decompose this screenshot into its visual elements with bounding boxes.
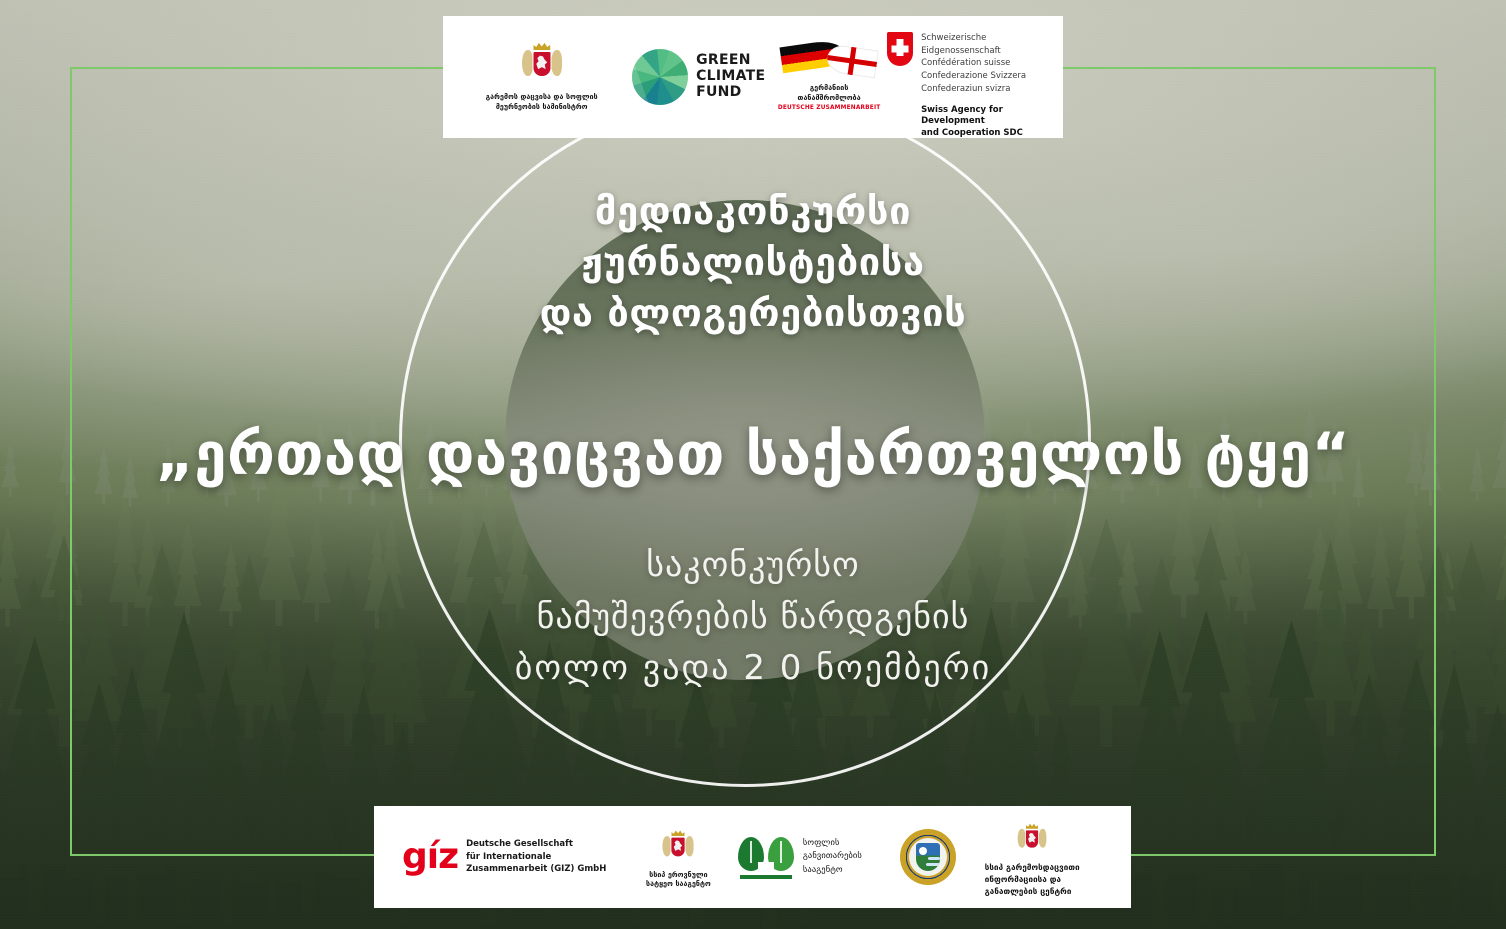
subtitle-line-2: ნამუშევრების წარდგენის (0, 592, 1506, 644)
logo-caption-line: მეურნეობის სამინისტრო (486, 103, 598, 112)
top-partner-logo-bar: გარემოს დაცვისა და სოფლის მეურნეობის სამ… (443, 16, 1063, 138)
logo-caption-line: სსიპ ეროვნული (646, 871, 711, 880)
subtitle-line-1: საკონკურსო (0, 540, 1506, 592)
logo-caption-line: FUND (696, 85, 765, 101)
logo-caption-line: für Internationale (466, 851, 606, 864)
circular-seal-icon (900, 829, 956, 885)
giz-wordmark-icon: gíz (402, 841, 458, 873)
logo-caption-line: სააგენტო (803, 864, 862, 877)
logo-caption-line: Zusammenarbeit (GIZ) GmbH (466, 863, 606, 876)
georgia-coat-of-arms-icon (664, 829, 694, 863)
logo-caption-line: გარემოს დაცვისა და სოფლის (486, 93, 598, 102)
logo-caption-line: სატყეო სააგენტო (646, 880, 711, 889)
headline-line-3: და ბლოგერებისთვის (0, 288, 1506, 339)
deadline-line: ბოლო ვადა 2 0 ნოემბერი (0, 643, 1506, 695)
subtitle-block: საკონკურსო ნამუშევრების წარდგენის ბოლო ვ… (0, 540, 1506, 695)
logo-subcaption: DEUTSCHE ZUSAMMENARBEIT (778, 105, 881, 113)
logo-caption-line: სოფლის (803, 837, 862, 850)
logo-caption-line: Schweizerische Eidgenossenschaft (921, 32, 1049, 58)
georgia-coat-of-arms-icon (1019, 823, 1046, 855)
headline-block: მედიაკონკურსი ჟურნალისტებისა და ბლოგერებ… (0, 186, 1506, 339)
logo-rural-development-agency: სოფლის განვითარების სააგენტო (738, 835, 894, 879)
green-climate-fund-icon (632, 49, 688, 105)
logo-national-forestry-agency: სსიპ ეროვნული სატყეო სააგენტო (619, 825, 738, 890)
logo-ministry-of-environment: გარემოს დაცვისა და სოფლის მეურნეობის სამ… (457, 42, 626, 112)
poster-canvas: გარემოს დაცვისა და სოფლის მეურნეობის სამ… (0, 0, 1506, 929)
logo-german-cooperation: გერმანიის თანამშრომლობა DEUTSCHE ZUSAMME… (771, 41, 887, 113)
swiss-flag-shield-icon (887, 32, 913, 66)
logo-caption-line: Confederazione Svizzera (921, 70, 1049, 83)
logo-subcaption-line: and Cooperation SDC (921, 128, 1049, 140)
logo-caption-line: Confédération suisse (921, 57, 1049, 70)
logo-subcaption-line: Swiss Agency for Development (921, 105, 1049, 129)
logo-caption-line: განათლების ცენტრი (985, 886, 1080, 898)
logo-caption-line: ინფორმაციისა და (985, 874, 1080, 886)
logo-caption-line: Deutsche Gesellschaft (466, 838, 606, 851)
logo-environmental-info-education-centre: სსიპ გარემოსდაცვითი ინფორმაციისა და განა… (961, 817, 1103, 898)
headline-line-1: მედიაკონკურსი (0, 186, 1506, 237)
headline-line-2: ჟურნალისტებისა (0, 237, 1506, 288)
georgia-coat-of-arms-icon (523, 42, 561, 86)
bottom-partner-logo-bar: gíz Deutsche Gesellschaft für Internatio… (374, 806, 1131, 908)
two-trees-icon (738, 835, 794, 879)
logo-caption-line: განვითარების (803, 850, 862, 863)
logo-green-climate-fund: GREEN CLIMATE FUND (626, 49, 771, 105)
logo-giz: gíz Deutsche Gesellschaft für Internatio… (402, 838, 619, 876)
logo-environmental-seal (894, 829, 962, 885)
logo-caption-line: Confederaziun svizra (921, 83, 1049, 96)
german-georgian-flag-icon (781, 41, 877, 83)
logo-caption-line: გერმანიის (778, 84, 881, 93)
logo-caption-line: სსიპ გარემოსდაცვითი (985, 862, 1080, 874)
logo-caption-line: თანამშრომლობა (778, 94, 881, 103)
logo-caption-line: CLIMATE (696, 69, 765, 85)
logo-swiss-sdc: Schweizerische Eidgenossenschaft Confédé… (887, 14, 1049, 140)
logo-caption-line: GREEN (696, 53, 765, 69)
poster-title: „ერთად დავიცვათ საქართველოს ტყე“ (0, 420, 1506, 488)
